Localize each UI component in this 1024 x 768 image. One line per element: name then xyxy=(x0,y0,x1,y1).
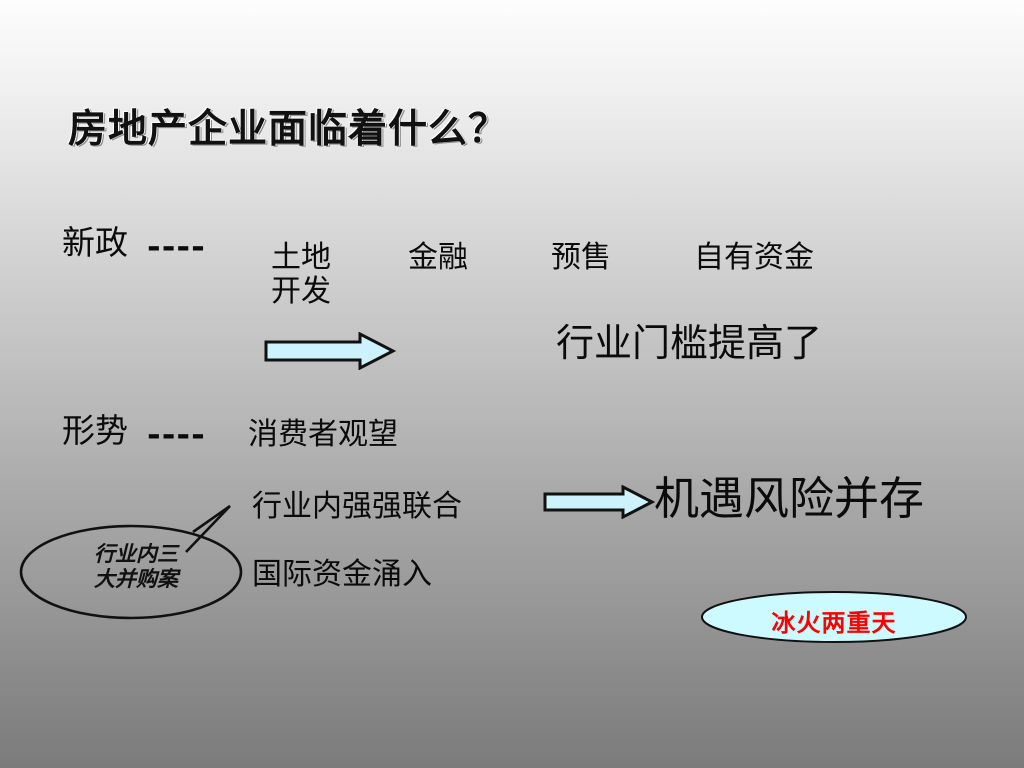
policy-row-label: 新政 xyxy=(62,225,128,262)
situation-conclusion: 机遇风险并存 xyxy=(654,474,924,524)
right-arrow-icon-policy xyxy=(264,332,396,370)
page-title: 房地产企业面临着什么？ xyxy=(68,98,508,154)
situation-row-label: 形势 xyxy=(62,413,128,450)
status-badge: 冰火两重天 xyxy=(700,590,968,644)
policy-item-presale: 预售 xyxy=(551,241,611,275)
policy-row-dashes: ---- xyxy=(147,228,206,265)
status-badge-label: 冰火两重天 xyxy=(700,603,968,638)
situation-row-dashes: ---- xyxy=(147,416,206,453)
callout-bubble: 行业内三 大并购案 xyxy=(18,504,268,622)
callout-line-1: 行业内三 xyxy=(56,542,216,567)
right-arrow-icon-situation xyxy=(543,485,655,519)
callout-text-block: 行业内三 大并购案 xyxy=(56,542,216,592)
situation-item-industry-alliance: 行业内强强联合 xyxy=(252,490,462,524)
policy-item-finance: 金融 xyxy=(408,241,468,275)
policy-item-own-capital: 自有资金 xyxy=(694,241,814,275)
callout-line-2: 大并购案 xyxy=(56,567,216,592)
situation-item-consumer-wait-and-see: 消费者观望 xyxy=(248,418,398,452)
situation-item-international-capital: 国际资金涌入 xyxy=(252,558,432,592)
slide-canvas: 房地产企业面临着什么？ 新政 ---- 土地 开发 金融 预售 自有资金 行业门… xyxy=(0,0,1024,768)
policy-conclusion: 行业门槛提高了 xyxy=(556,322,828,365)
policy-item-land-development: 土地 开发 xyxy=(271,241,357,308)
